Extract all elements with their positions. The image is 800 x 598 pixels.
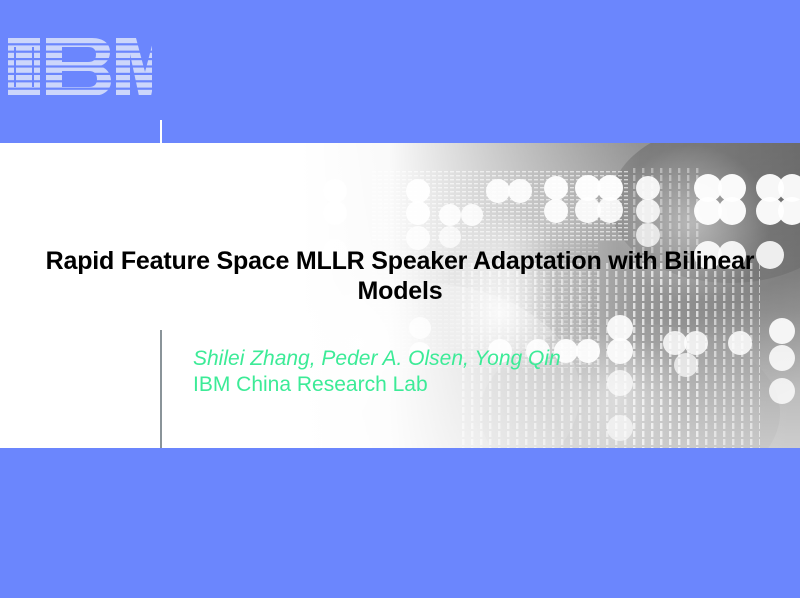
slide-title: Rapid Feature Space MLLR Speaker Adaptat… [30, 246, 770, 306]
footer-band [0, 448, 800, 598]
author-block: Shilei Zhang, Peder A. Olsen, Yong Qin I… [193, 346, 663, 398]
content-band: Rapid Feature Space MLLR Speaker Adaptat… [0, 143, 800, 448]
header-divider-rule [160, 120, 162, 144]
author-names: Shilei Zhang, Peder A. Olsen, Yong Qin [193, 346, 663, 372]
author-affiliation: IBM China Research Lab [193, 372, 663, 398]
author-divider-rule [160, 330, 162, 448]
presentation-slide: Rapid Feature Space MLLR Speaker Adaptat… [0, 0, 800, 598]
ibm-logo [8, 38, 152, 96]
header-band [0, 0, 800, 143]
